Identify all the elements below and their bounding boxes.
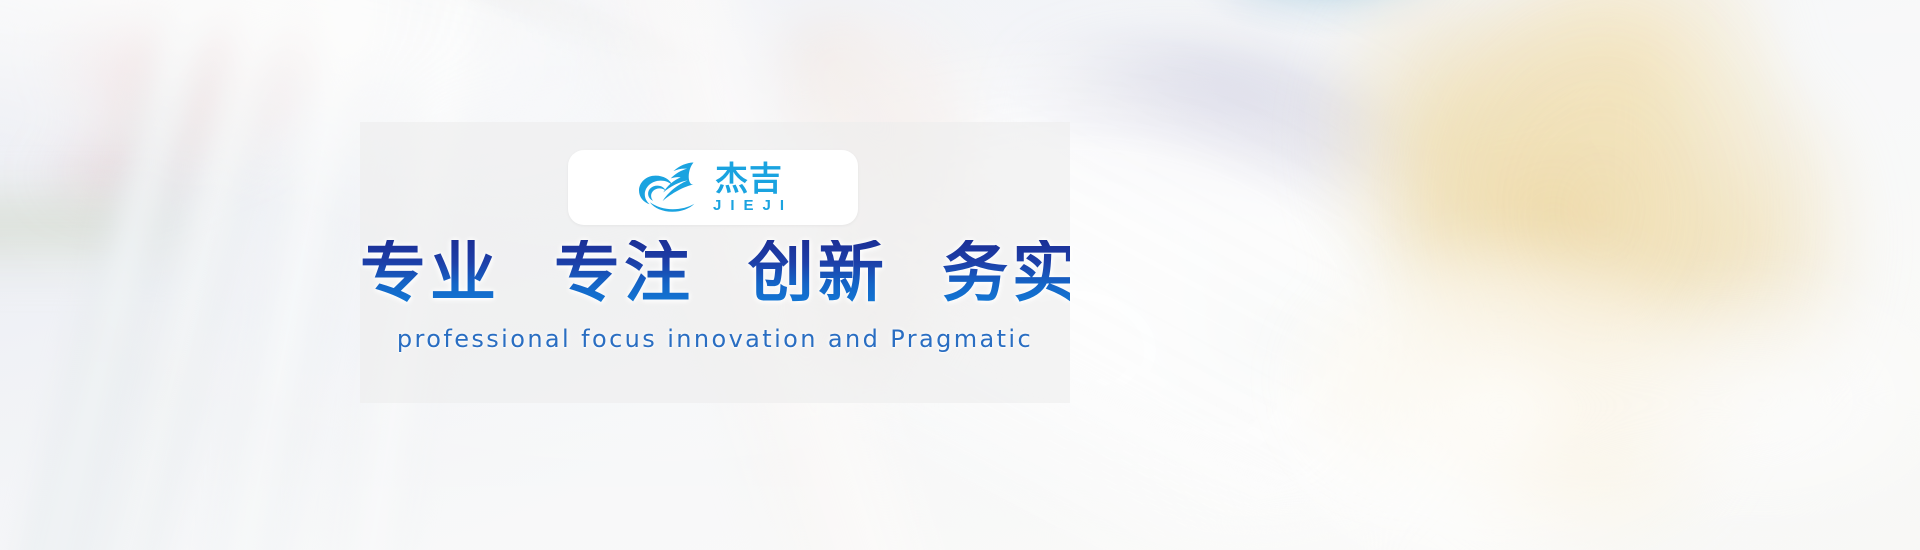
company-logo: 杰吉 JIEJI — [568, 150, 858, 225]
subtitle-slogan: professional focus innovation and Pragma… — [360, 327, 1070, 351]
branding-overlay-panel: 杰吉 JIEJI 专业 专注 创新 务实 professional focus … — [360, 122, 1070, 403]
logo-wordmark: 杰吉 JIEJI — [705, 162, 793, 213]
headline-slogan: 专业 专注 创新 务实 — [360, 240, 1070, 306]
hero-banner: 杰吉 JIEJI 专业 专注 创新 务实 professional focus … — [0, 0, 1920, 550]
jieji-swirl-icon — [633, 159, 699, 217]
logo-chinese-name: 杰吉 — [715, 162, 783, 195]
logo-pinyin: JIEJI — [713, 198, 793, 213]
